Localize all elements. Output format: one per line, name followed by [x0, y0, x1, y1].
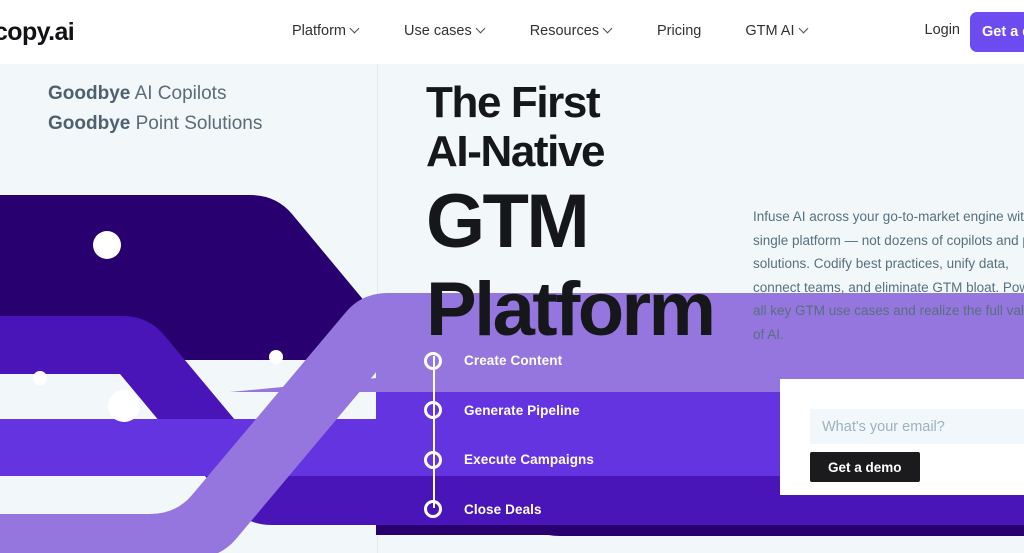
chevron-down-icon [477, 25, 486, 34]
login-link[interactable]: Login [925, 22, 960, 38]
gtm-step-list: Create Content Generate Pipeline Execute… [424, 336, 684, 534]
ribbon-node-small-right [269, 350, 283, 364]
step-dot-icon [424, 401, 442, 419]
step-dot-icon [424, 352, 442, 370]
nav-item-pricing-label: Pricing [657, 22, 701, 41]
nav-item-gtm-ai-label: GTM AI [745, 22, 794, 41]
headline-line-1: The First [426, 78, 713, 127]
goodbye-line-2-rest: Point Solutions [136, 113, 263, 134]
nav-item-pricing[interactable]: Pricing [635, 22, 723, 41]
ribbon-node-large-top [93, 231, 121, 259]
chevron-down-icon [800, 25, 809, 34]
goodbye-line-1-rest: AI Copilots [135, 83, 227, 104]
nav-item-platform[interactable]: Platform [270, 22, 382, 41]
nav-menu: Platform Use cases Resources Pricing GTM… [270, 22, 831, 41]
get-a-demo-button[interactable]: Get a demo [810, 452, 920, 482]
goodbye-block: Goodbye AI Copilots Goodbye Point Soluti… [48, 79, 262, 139]
step-label-close-deals: Close Deals [464, 502, 542, 517]
headline-line-3: GTM [426, 180, 713, 264]
page-root: copy.ai Platform Use cases Resources Pri… [0, 0, 1024, 553]
step-item-close-deals[interactable]: Close Deals [424, 485, 684, 535]
step-item-generate-pipeline[interactable]: Generate Pipeline [424, 386, 684, 436]
step-label-generate-pipeline: Generate Pipeline [464, 403, 580, 418]
nav-item-use-cases[interactable]: Use cases [382, 22, 508, 41]
step-item-create-content[interactable]: Create Content [424, 336, 684, 386]
site-logo[interactable]: copy.ai [0, 18, 74, 47]
step-label-execute-campaigns: Execute Campaigns [464, 452, 594, 467]
chevron-down-icon [351, 25, 360, 34]
nav-item-resources[interactable]: Resources [508, 22, 635, 41]
ribbon-node-large-mid [108, 390, 140, 422]
hero-description-paragraph: Infuse AI across your go-to-market engin… [753, 205, 1024, 346]
nav-item-gtm-ai[interactable]: GTM AI [723, 22, 830, 41]
goodbye-line-1: Goodbye AI Copilots [48, 79, 262, 109]
step-label-create-content: Create Content [464, 353, 562, 368]
nav-get-a-demo-button[interactable]: Get a demo [970, 12, 1024, 52]
hero-section: Goodbye AI Copilots Goodbye Point Soluti… [0, 64, 1024, 553]
step-dot-icon [424, 500, 442, 518]
hero-headline: The First AI-Native GTM Platform [426, 78, 713, 352]
chevron-down-icon [604, 25, 613, 34]
goodbye-line-1-bold: Goodbye [48, 83, 130, 104]
email-input[interactable] [810, 409, 1024, 444]
nav-item-use-cases-label: Use cases [404, 22, 472, 41]
nav-item-platform-label: Platform [292, 22, 346, 41]
goodbye-line-2-bold: Goodbye [48, 113, 130, 134]
top-navigation-bar: copy.ai Platform Use cases Resources Pri… [0, 0, 1024, 64]
nav-item-resources-label: Resources [530, 22, 599, 41]
step-item-execute-campaigns[interactable]: Execute Campaigns [424, 435, 684, 485]
step-dot-icon [424, 451, 442, 469]
email-capture-card: Get a demo [780, 379, 1024, 495]
ribbon-node-small-left [33, 371, 47, 385]
goodbye-line-2: Goodbye Point Solutions [48, 109, 262, 139]
headline-line-2: AI-Native [426, 127, 713, 176]
